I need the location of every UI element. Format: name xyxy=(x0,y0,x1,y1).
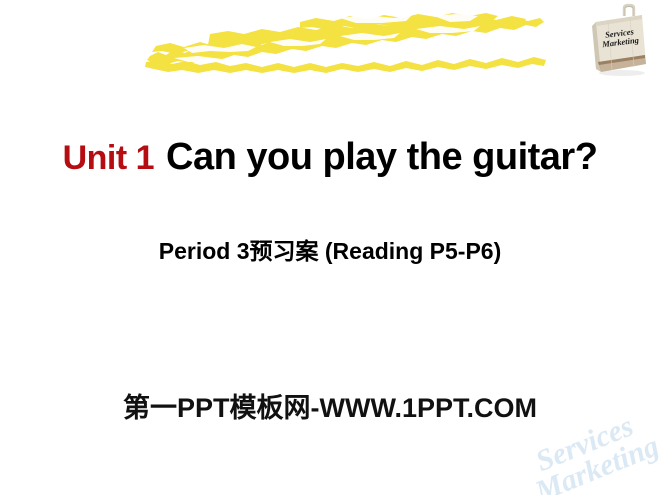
title-unit-label: Unit 1 xyxy=(63,139,154,177)
site-watermark-text: 第一PPT模板网-WWW.1PPT.COM xyxy=(0,386,660,425)
presentation-slide: Services Marketing Unit 1Can you play th… xyxy=(0,0,660,495)
subtitle: Period 3预习案 (Reading P5-P6) xyxy=(0,238,660,264)
script-watermark-line2: Marketing xyxy=(530,429,660,495)
paper-shopping-bag-photo: Services Marketing xyxy=(586,2,654,82)
yellow-brush-stroke xyxy=(144,12,548,74)
page-title: Unit 1Can you play the guitar? xyxy=(0,138,660,176)
title-main-text: Can you play the guitar? xyxy=(166,136,597,178)
